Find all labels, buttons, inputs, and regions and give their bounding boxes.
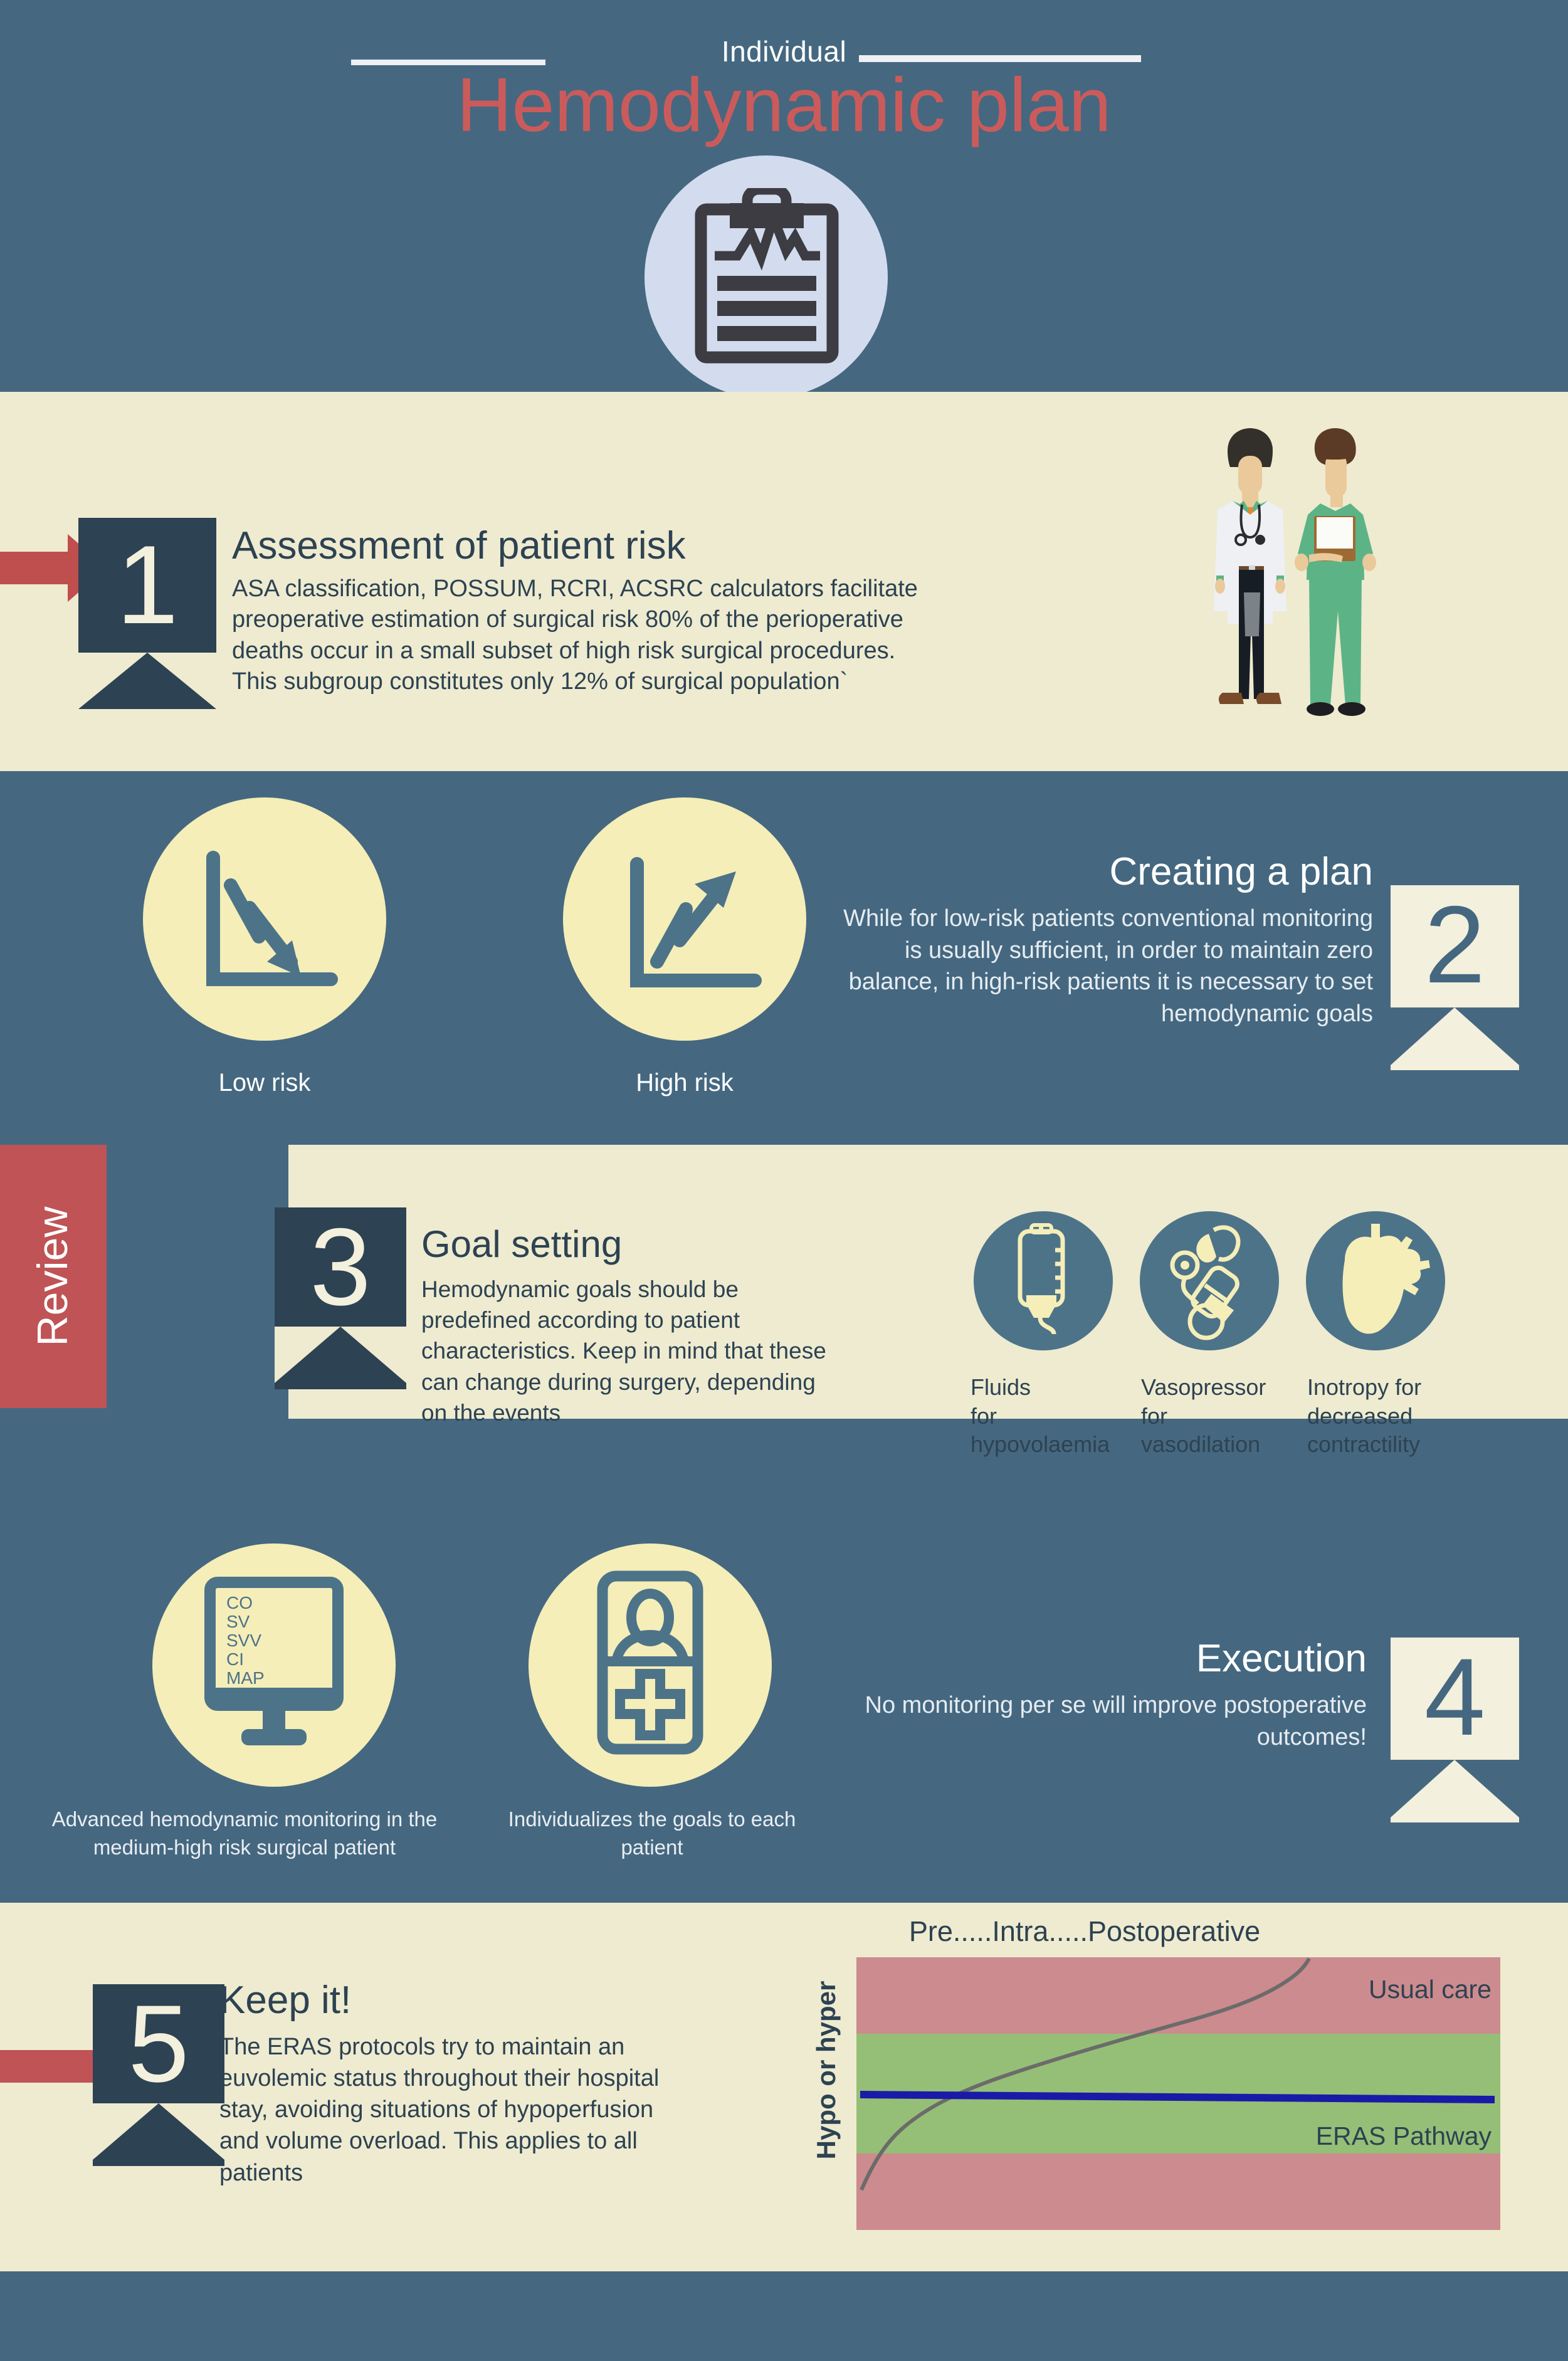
monitor-icon: CO SV SVV CI MAP ScvO2 xyxy=(152,1543,396,1787)
section-2-body: While for low-risk patients conventional… xyxy=(834,903,1373,1029)
monitor-caption: Advanced hemodynamic monitoring in the m… xyxy=(38,1806,451,1861)
eras-pathway-label: ERAS Pathway xyxy=(1316,2122,1492,2151)
section-3-body: Hemodynamic goals should be predefined a… xyxy=(421,1274,835,1428)
patient-badge-caption: Individualizes the goals to each patient xyxy=(495,1806,809,1861)
section-5-body: The ERAS protocols try to maintain an eu… xyxy=(219,2031,671,2189)
svg-text:CI: CI xyxy=(226,1649,244,1669)
section-4-title: Execution xyxy=(846,1636,1367,1681)
section-1-body: ASA classification, POSSUM, RCRI, ACSRC … xyxy=(232,574,934,698)
ribbon-1-number: 1 xyxy=(78,529,216,641)
heart-icon xyxy=(1306,1211,1445,1350)
low-risk-label: Low risk xyxy=(143,1069,386,1097)
section-4-body: No monitoring per se will improve postop… xyxy=(846,1690,1367,1753)
clipboard-ecg-icon xyxy=(695,188,839,364)
vasopressor-label: Vasopressor for vasodilation xyxy=(1141,1373,1304,1459)
section-3-title: Goal setting xyxy=(421,1223,622,1266)
section-2-title: Creating a plan xyxy=(834,849,1373,894)
chart-down-icon xyxy=(143,797,386,1041)
pills-stethoscope-icon xyxy=(1140,1211,1279,1350)
chart-y-axis-label: Hypo or hyper xyxy=(808,1957,845,2183)
section-5-title: Keep it! xyxy=(219,1978,351,2022)
ribbon-2-notch xyxy=(1391,1007,1519,1065)
svg-text:SV: SV xyxy=(226,1612,250,1631)
footer-band xyxy=(0,2271,1568,2361)
ribbon-5-number: 5 xyxy=(93,1989,224,2099)
chart-up-icon xyxy=(563,797,806,1041)
ribbon-5-notch xyxy=(93,2103,224,2160)
chart-title: Pre.....Intra.....Postoperative xyxy=(802,1915,1367,1948)
ribbon-4-notch xyxy=(1391,1760,1519,1817)
infographic-canvas: Individual Hemodynamic plan 1 Assessment… xyxy=(0,0,1568,2361)
ribbon-3-number: 3 xyxy=(275,1212,406,1322)
ribbon-3-notch xyxy=(275,1327,406,1383)
usual-care-label: Usual care xyxy=(1369,1975,1492,2004)
high-risk-label: High risk xyxy=(563,1069,806,1097)
svg-text:SVV: SVV xyxy=(226,1631,261,1650)
iv-fluid-bag-icon xyxy=(974,1211,1113,1350)
ribbon-1-notch xyxy=(78,653,216,709)
patient-badge-icon xyxy=(529,1543,772,1787)
chart-plot-area: Usual care ERAS Pathway xyxy=(856,1957,1500,2230)
arrow-in-1 xyxy=(0,552,75,584)
section-1-title: Assessment of patient risk xyxy=(232,523,686,568)
svg-text:ScvO2: ScvO2 xyxy=(226,1686,279,1705)
svg-text:MAP: MAP xyxy=(226,1668,265,1688)
ribbon-4-number: 4 xyxy=(1391,1643,1519,1752)
inotropy-label: Inotropy for decreased contractility xyxy=(1307,1373,1483,1459)
ribbon-2-number: 2 xyxy=(1391,890,1519,1000)
svg-text:CO: CO xyxy=(226,1593,253,1612)
page-title: Hemodynamic plan xyxy=(0,61,1568,149)
eras-chart: Hypo or hyper Usual care ERAS Pathway xyxy=(789,1957,1500,2230)
review-tab-label: Review xyxy=(13,1145,92,1408)
review-tab[interactable]: Review xyxy=(0,1145,107,1408)
doctor-and-nurse-illustration xyxy=(1179,423,1404,759)
fluids-label: Fluids for hypovolaemia xyxy=(971,1373,1134,1459)
